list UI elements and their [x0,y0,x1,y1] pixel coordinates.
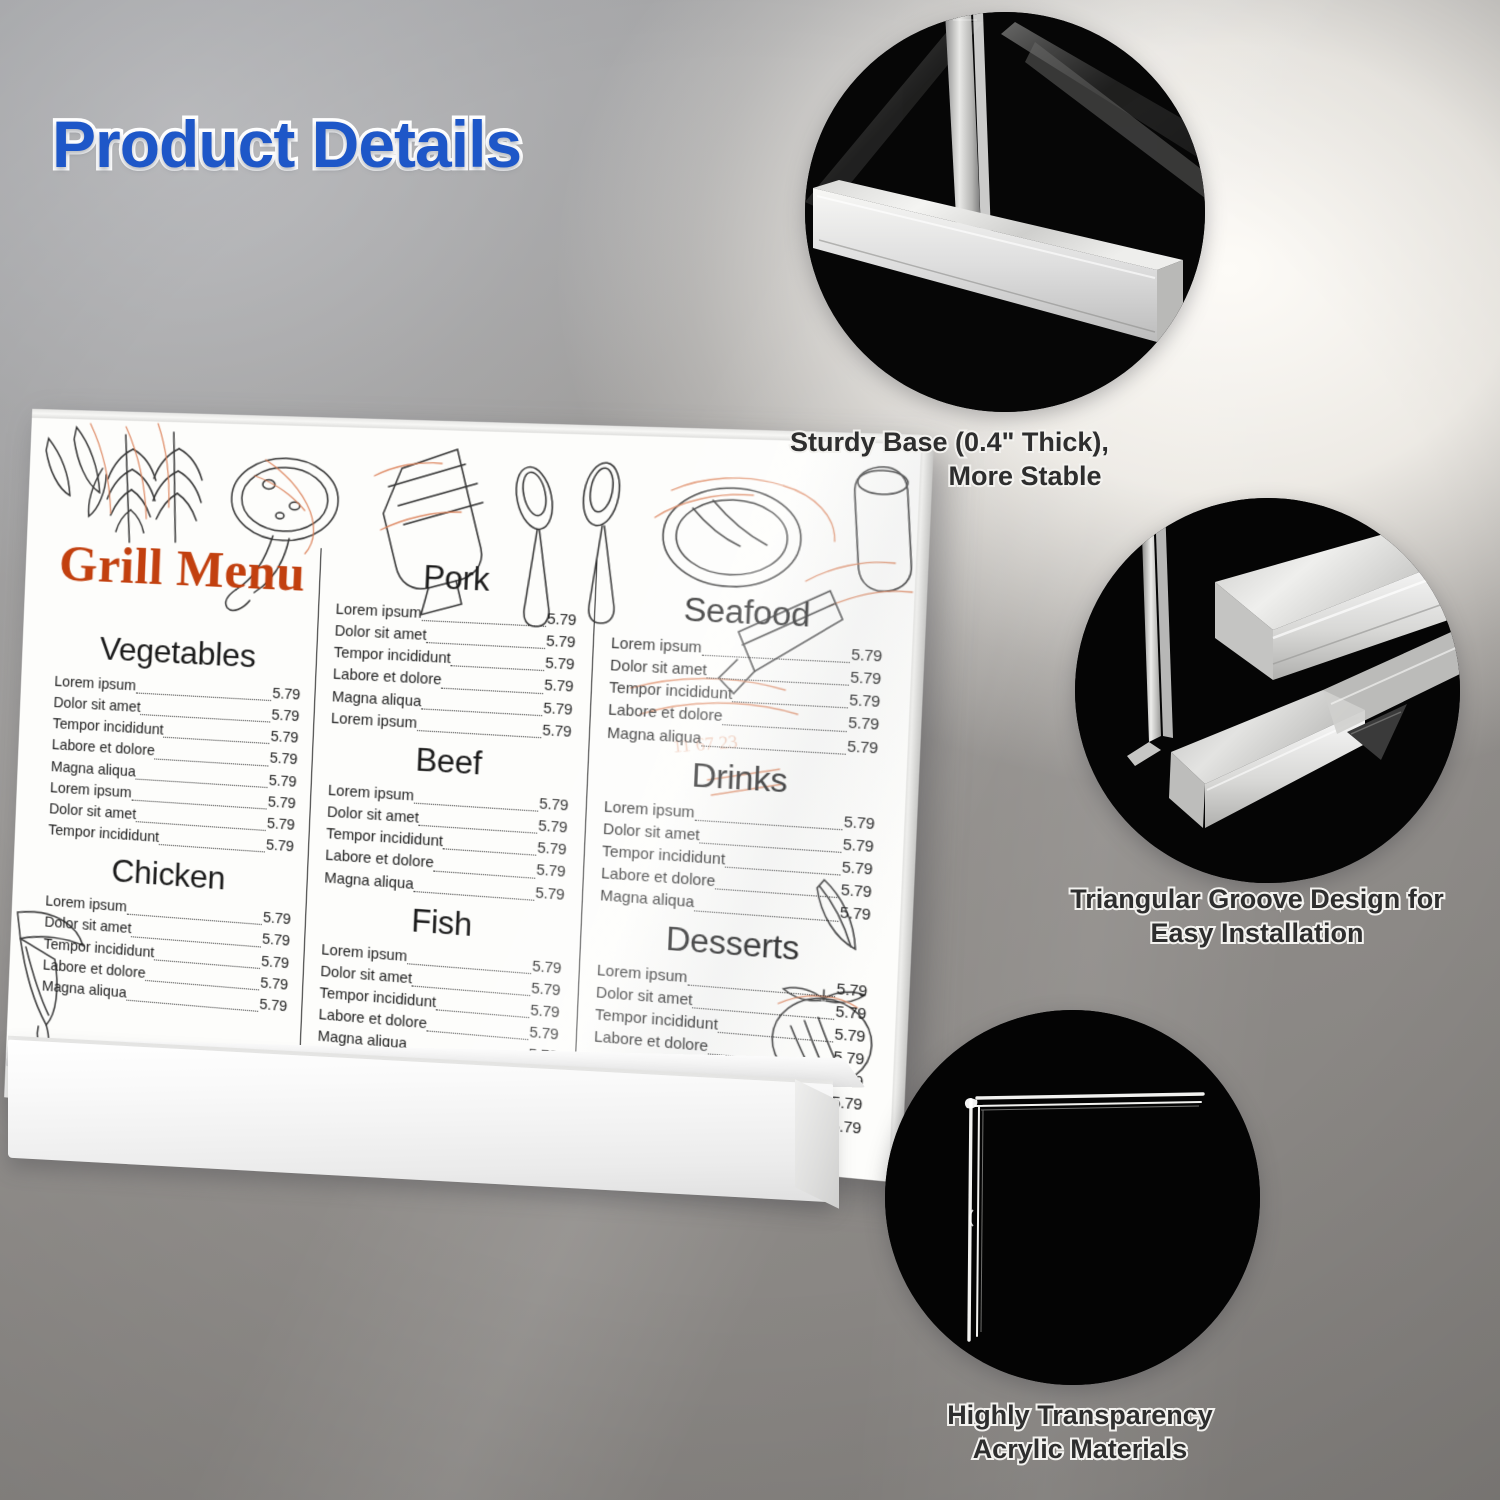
menu-item-price: 5.79 [841,857,873,882]
menu-section-heading: Beef [329,736,571,788]
menu-item-price: 5.79 [840,880,872,905]
menu-item-price: 5.79 [266,814,295,838]
menu-item-price: 5.79 [267,792,296,815]
menu-item-price: 5.79 [271,705,300,728]
acrylic-base-thickness-photo [805,12,1205,412]
menu-item-price: 5.79 [542,720,572,744]
menu-item-price: 5.79 [269,749,298,772]
menu-item-price: 5.79 [263,908,292,932]
callout-caption-line-1: Highly Transparency [947,1400,1213,1430]
menu-item-price: 5.79 [272,684,301,707]
callout-photo-triangular-groove [1075,498,1460,883]
callout-photo-transparency [885,1010,1260,1385]
menu-item-price: 5.79 [847,736,879,761]
menu-item-name: Lorem ipsum [331,708,418,735]
menu-item-price: 5.79 [848,713,880,738]
menu-item-price: 5.79 [260,973,289,997]
triangular-groove-photo [1075,498,1460,883]
menu-item-price: 5.79 [535,883,565,907]
base-right-face [795,1079,839,1208]
menu-item-price: 5.79 [545,654,575,678]
menu-item-price: 5.79 [539,794,569,818]
menu-item-price: 5.79 [261,951,290,975]
menu-item-leader-line [701,745,846,754]
menu-section-heading: Drinks [605,751,877,806]
menu-item-price: 5.79 [537,838,567,862]
menu-item-leader-line [159,844,265,852]
menu-item-price: 5.79 [842,835,874,860]
menu-item-leader-line [413,891,534,901]
menu-column-1: VegetablesLorem ipsum5.79Dolor sit amet5… [39,622,317,1090]
menu-item-leader-line [126,1000,258,1012]
menu-item-price: 5.79 [843,812,875,837]
menu-item-price: 5.79 [270,727,299,750]
page-title: Product Details [52,106,521,182]
menu-section-items: Lorem ipsum5.79Dolor sit amet5.79Tempor … [331,599,577,744]
callout-caption-line-1: Sturdy Base (0.4" Thick), [790,427,1109,457]
menu-item-price: 5.79 [849,690,881,714]
menu-section-items: Lorem ipsum5.79Dolor sit amet5.79Tempor … [324,781,569,907]
menu-section-heading: Pork [336,555,578,603]
menu-item-price: 5.79 [839,903,871,928]
menu-item-price: 5.79 [268,770,297,793]
menu-section-items: Lorem ipsum5.79Dolor sit amet5.79Tempor … [41,892,291,1019]
menu-item-price: 5.79 [543,698,573,722]
clear-acrylic-corner-photo [885,1010,1260,1385]
menu-item-leader-line [417,730,541,738]
menu-item-price: 5.79 [536,860,566,884]
menu-item-price: 5.79 [546,631,576,655]
menu-item-leader-line [694,910,839,922]
menu-section-heading: Seafood [612,588,885,639]
callout-caption-triangular-groove: Triangular Groove Design for Easy Instal… [1022,882,1492,950]
menu-item-price: 5.79 [544,676,574,700]
menu-section-heading: Vegetables [55,628,302,678]
menu-item-price: 5.79 [531,978,561,1003]
callout-caption-line-1: Triangular Groove Design for [1070,884,1444,914]
callout-photo-sturdy-base [805,12,1205,412]
menu-section-items: Lorem ipsum5.79Dolor sit amet5.79Tempor … [607,633,883,760]
menu-item-price: 5.79 [851,645,883,669]
acrylic-base [0,1028,860,1238]
callout-caption-transparency: Highly Transparency Acrylic Materials [880,1398,1280,1466]
callout-caption-line-2: Easy Installation [1150,918,1363,948]
callout-caption-sturdy-base: Sturdy Base (0.4" Thick),More Stable [790,425,1260,493]
menu-item-name: Magna aliqua [607,723,702,751]
menu-item-price: 5.79 [836,979,868,1004]
menu-item-price: 5.79 [850,668,882,692]
callout-caption-line-2: More Stable [790,459,1260,493]
menu-item-price: 5.79 [262,930,291,954]
menu-item-price: 5.79 [530,1000,560,1025]
acrylic-sign-holder: 11 67 23 Grill Menu VegetablesLorem ipsu… [0,400,900,1230]
menu-section-items: Lorem ipsum5.79Dolor sit amet5.79Tempor … [600,797,875,928]
menu-item-price: 5.79 [835,1001,867,1026]
menu-item-price: 5.79 [547,609,577,633]
menu-item-price: 5.79 [538,816,568,840]
menu-section-items: Lorem ipsum5.79Dolor sit amet5.79Tempor … [48,672,301,859]
menu-item-price: 5.79 [259,994,288,1018]
callout-caption-line-2: Acrylic Materials [973,1434,1188,1464]
menu-item-price: 5.79 [266,835,295,859]
menu-item-price: 5.79 [532,956,562,980]
